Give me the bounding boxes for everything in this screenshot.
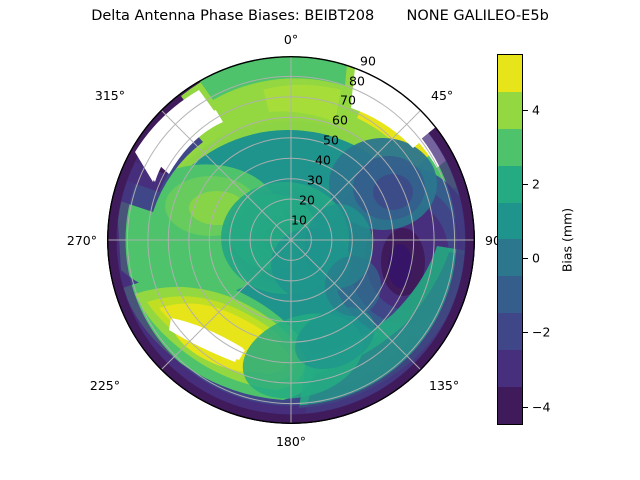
azimuth-label-45: 45° — [431, 88, 453, 103]
colorbar-gradient — [497, 54, 523, 425]
colorbar-ticklabel-neg2: −2 — [532, 325, 550, 340]
colorbar-ticklabel-neg4: −4 — [532, 399, 550, 414]
colorbar-ticklabel-0: 0 — [532, 251, 540, 266]
azimuth-label-225: 225° — [90, 378, 120, 393]
colorbar-ticklabel-4: 4 — [532, 102, 540, 117]
radial-label-80: 80 — [349, 74, 365, 89]
polar-contour-field — [107, 56, 475, 424]
colorbar-band-6 — [498, 276, 522, 313]
polar-axes: 0° 45° 90° 135° 180° 225° 270° 315° 10 2… — [107, 56, 475, 424]
colorbar-band-8 — [498, 350, 522, 387]
radial-label-70: 70 — [340, 93, 356, 108]
radial-label-40: 40 — [315, 153, 331, 168]
polar-grid-spokes — [107, 56, 475, 424]
colorbar-band-9 — [498, 387, 522, 424]
azimuth-label-135: 135° — [429, 378, 459, 393]
azimuth-label-315: 315° — [95, 88, 125, 103]
colorbar-band-5 — [498, 239, 522, 276]
colorbar: 4 2 0 −2 −4 Bias (mm) — [497, 54, 617, 426]
figure-canvas: Delta Antenna Phase Biases: BEIBT208 NON… — [0, 0, 640, 480]
colorbar-band-2 — [498, 129, 522, 166]
radial-label-30: 30 — [307, 173, 323, 188]
colorbar-band-7 — [498, 313, 522, 350]
radial-label-50: 50 — [323, 133, 339, 148]
radial-label-10: 10 — [291, 213, 307, 228]
polar-data-disc — [107, 56, 475, 424]
radial-label-20: 20 — [299, 193, 315, 208]
colorbar-band-1 — [498, 92, 522, 129]
azimuth-label-0: 0° — [284, 32, 298, 47]
radial-label-90: 90 — [360, 54, 376, 69]
azimuth-label-180: 180° — [276, 434, 306, 449]
colorbar-tick-0 — [523, 258, 528, 259]
colorbar-band-3 — [498, 166, 522, 203]
colorbar-band-4 — [498, 203, 522, 240]
figure-title: Delta Antenna Phase Biases: BEIBT208 NON… — [0, 8, 640, 24]
colorbar-tick-neg2 — [523, 332, 528, 333]
colorbar-axis-label: Bias (mm) — [560, 208, 575, 272]
colorbar-ticklabel-2: 2 — [532, 176, 540, 191]
colorbar-tick-4 — [523, 110, 528, 111]
radial-label-60: 60 — [332, 113, 348, 128]
colorbar-tick-2 — [523, 184, 528, 185]
colorbar-tick-neg4 — [523, 407, 528, 408]
azimuth-label-270: 270° — [67, 233, 97, 248]
colorbar-band-0 — [498, 55, 522, 92]
